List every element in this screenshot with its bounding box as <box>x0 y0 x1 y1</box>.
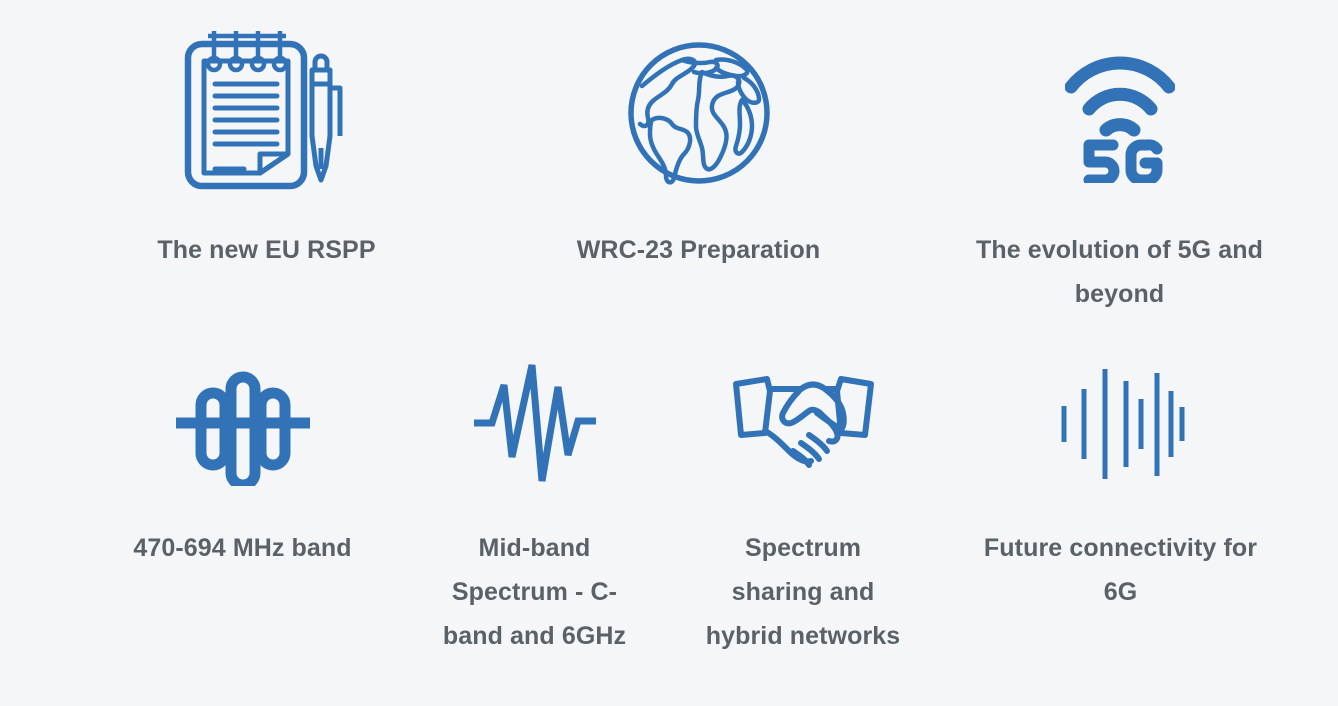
notepad-pen-icon <box>182 18 352 208</box>
topic-label: WRC-23 Preparation <box>577 228 821 272</box>
topic-card-future-6g[interactable]: Future connectivity for 6G <box>956 348 1286 614</box>
top-row: The new EU RSPP <box>0 18 1338 316</box>
topic-label: The new EU RSPP <box>157 228 375 272</box>
infographic-board: The new EU RSPP <box>0 0 1338 706</box>
topic-label: Mid-band Spectrum - C- band and 6GHz <box>443 526 626 658</box>
globe-icon <box>624 18 774 208</box>
bottom-row: 470-694 MHz band Mid-band Spectrum - C- … <box>0 348 1338 658</box>
topic-card-470-694-band[interactable]: 470-694 MHz band <box>93 348 393 570</box>
topic-label: The evolution of 5G and beyond <box>976 228 1263 316</box>
square-wave-icon <box>172 348 314 498</box>
topic-card-spectrum-sharing[interactable]: Spectrum sharing and hybrid networks <box>681 348 926 658</box>
topic-label: Future connectivity for 6G <box>984 526 1257 614</box>
topic-label: Spectrum sharing and hybrid networks <box>706 526 901 658</box>
topic-card-mid-band-spectrum[interactable]: Mid-band Spectrum - C- band and 6GHz <box>420 348 650 658</box>
handshake-icon <box>731 348 876 498</box>
topic-card-5g-evolution[interactable]: The evolution of 5G and beyond <box>950 18 1290 316</box>
topic-label: 470-694 MHz band <box>133 526 351 570</box>
topic-card-eu-rspp[interactable]: The new EU RSPP <box>97 18 437 272</box>
topic-card-wrc-23[interactable]: WRC-23 Preparation <box>534 18 864 272</box>
signal-spike-icon <box>470 348 600 498</box>
audio-bars-icon <box>1056 348 1186 498</box>
5g-signal-icon <box>1065 18 1175 208</box>
